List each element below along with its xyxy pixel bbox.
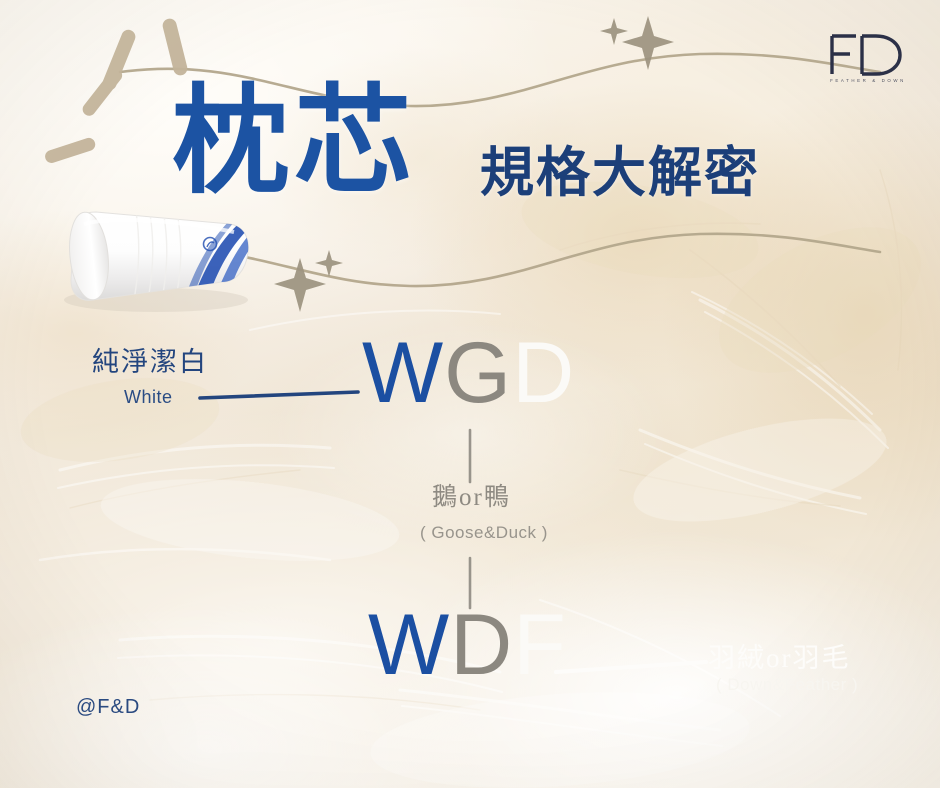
page-title: 枕芯 bbox=[172, 84, 416, 202]
acronym-wdf-letter-w: W bbox=[368, 597, 450, 693]
page-subtitle: 規格大解密 bbox=[480, 146, 760, 200]
poster-canvas: FEATHER & DOWN 枕芯 規格大解密 WGD WDF 純淨潔白 Whi… bbox=[0, 0, 940, 788]
connector-line-white bbox=[200, 392, 358, 398]
watermark: @F&D bbox=[76, 696, 140, 719]
label-down-feather-en: ( Down&Feather ) bbox=[716, 676, 858, 695]
connector-line-down-feather bbox=[556, 662, 706, 672]
dash-3 bbox=[80, 66, 125, 118]
acronym-wdf-letter-f: F bbox=[513, 597, 567, 693]
brand-logo[interactable]: FEATHER & DOWN bbox=[822, 28, 914, 94]
acronym-wdf-letter-d: D bbox=[450, 597, 513, 693]
dash-4 bbox=[43, 136, 96, 164]
acronym-wgd-letter-w: W bbox=[362, 325, 444, 421]
fd-monogram-icon bbox=[822, 28, 914, 80]
label-goose-duck-en: ( Goose&Duck ) bbox=[420, 524, 548, 543]
sparkle-top-small bbox=[600, 18, 628, 45]
label-white-cn: 純淨潔白 bbox=[92, 348, 208, 378]
acronym-wgd: WGD bbox=[362, 330, 575, 416]
label-white-en: White bbox=[124, 388, 173, 408]
acronym-wdf: WDF bbox=[368, 602, 567, 688]
logo-tagline: FEATHER & DOWN bbox=[822, 78, 914, 83]
bolster-pillow-illustration bbox=[44, 204, 262, 312]
label-goose-duck-cn: 鵝or鴨 bbox=[432, 484, 511, 512]
label-down-feather-cn: 羽絨or羽毛 bbox=[708, 644, 851, 674]
acronym-wgd-letter-g: G bbox=[444, 325, 512, 421]
acronym-wgd-letter-d: D bbox=[512, 325, 575, 421]
